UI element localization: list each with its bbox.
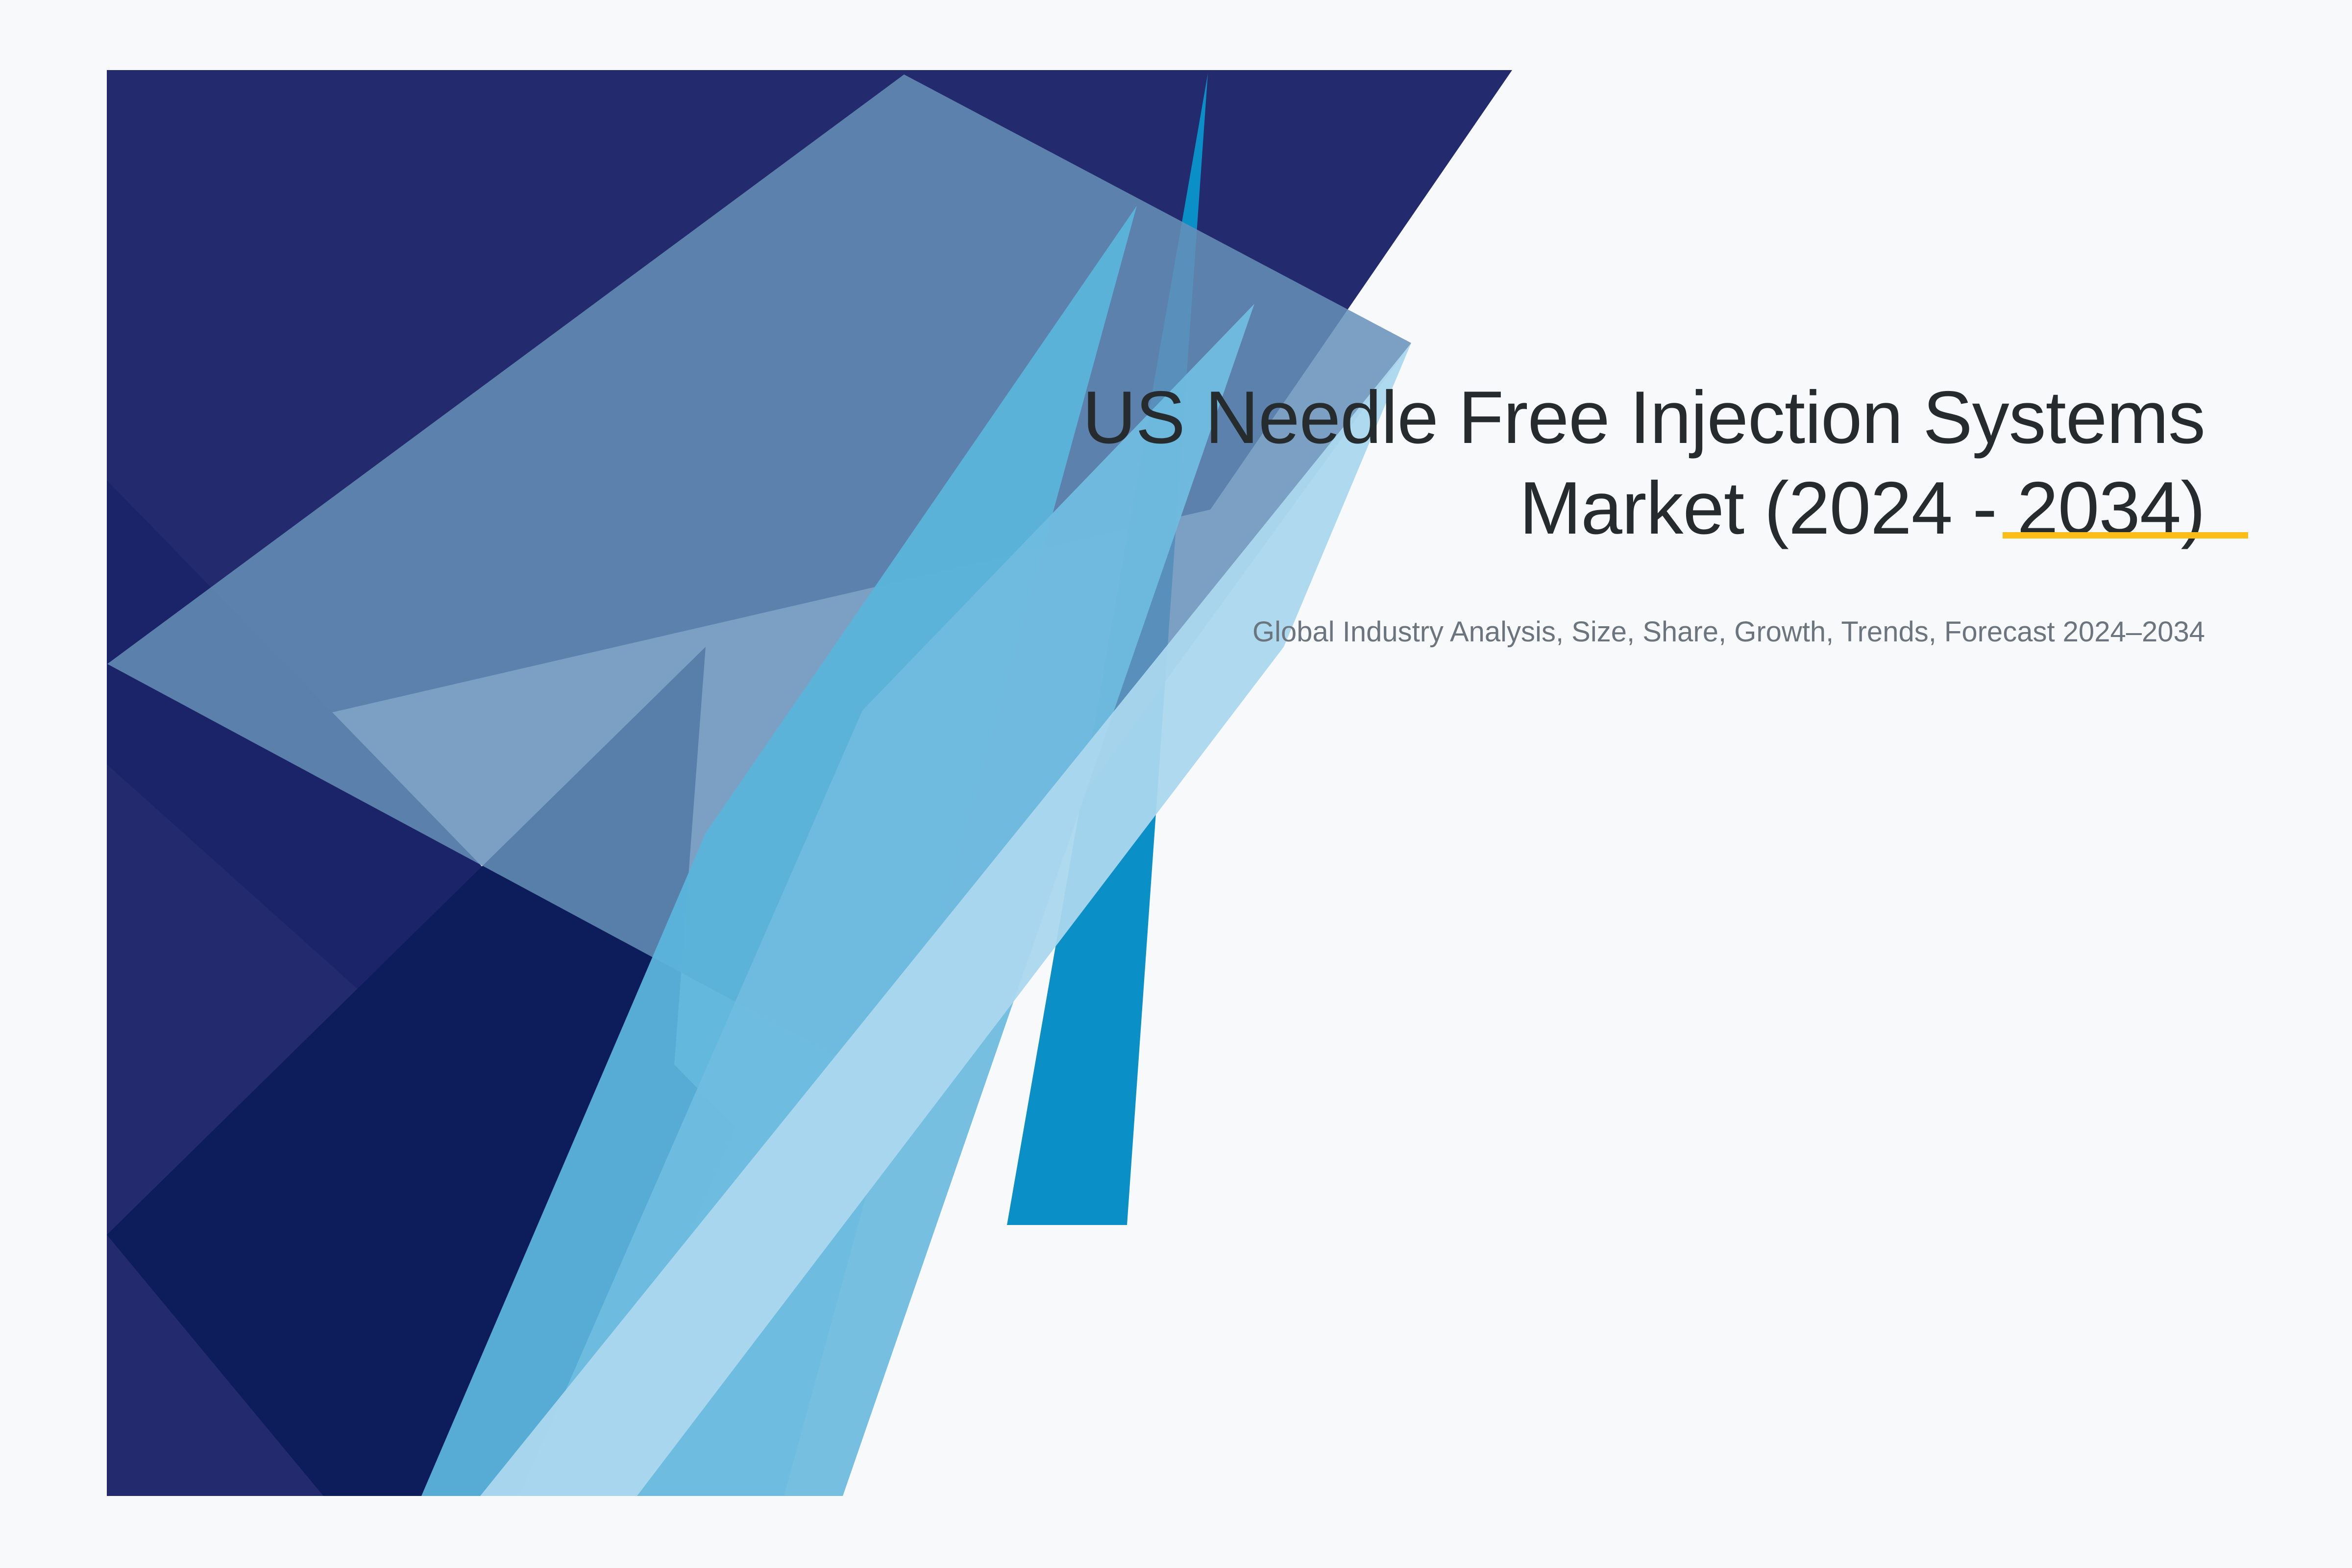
report-cover: US Needle Free Injection Systems Market … xyxy=(0,0,2352,1568)
page-subtitle: Global Industry Analysis, Size, Share, G… xyxy=(853,612,2205,652)
artwork-shapes xyxy=(107,70,1512,1496)
cover-artwork xyxy=(0,0,2352,1568)
title-accent-underline xyxy=(2003,532,2248,539)
cover-text-block: US Needle Free Injection Systems Market … xyxy=(853,372,2205,652)
artwork-svg xyxy=(0,0,2352,1568)
page-title: US Needle Free Injection Systems Market … xyxy=(853,372,2205,554)
